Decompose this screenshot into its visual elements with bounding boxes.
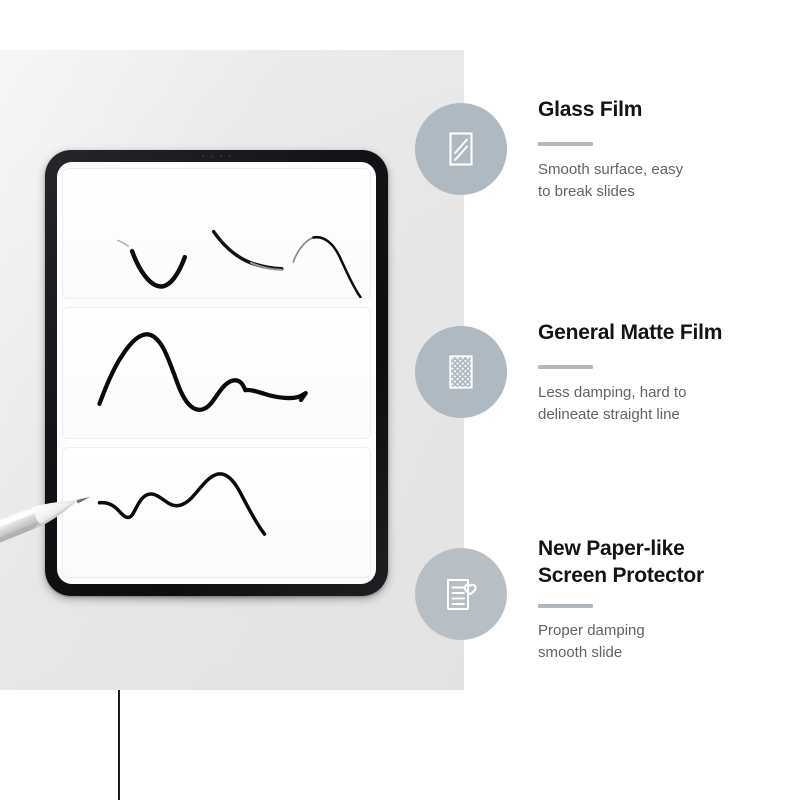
microphone-dot-icon [229, 155, 231, 157]
document-heart-icon [415, 548, 507, 640]
feature-description: Smooth surface, easy to break slides [538, 159, 800, 203]
camera-dot-icon [211, 155, 214, 158]
drawing-panel-glass[interactable] [62, 168, 371, 299]
glass-film-stroke [63, 169, 370, 298]
sensor-dot-icon [221, 155, 222, 156]
feature-title: Glass Film [538, 97, 800, 124]
dotted-matte-sheet-icon [415, 326, 507, 418]
camera-sensor-row [202, 155, 231, 158]
poster-canvas: Glass Film Smooth surface, easy to break… [0, 0, 800, 800]
glass-sheet-icon [415, 103, 507, 195]
drawing-panel-paperlike[interactable] [62, 447, 371, 578]
feature-text-block: Glass Film Smooth surface, easy to break… [538, 97, 800, 202]
matte-film-stroke [63, 308, 370, 437]
tablet-device [45, 150, 388, 596]
feature-description: Less damping, hard to delineate straight… [538, 382, 800, 426]
feature-title: General Matte Film [538, 320, 800, 347]
feature-description: Proper damping smooth slide [538, 620, 800, 664]
drawing-panel-matte[interactable] [62, 307, 371, 438]
paper-like-stroke [63, 448, 370, 577]
sensor-dot-icon [202, 155, 203, 156]
feature-divider [538, 142, 593, 146]
tablet-screen[interactable] [57, 162, 376, 584]
feature-divider [538, 365, 593, 369]
feature-text-block: General Matte Film Less damping, hard to… [538, 320, 800, 425]
feature-text-block: New Paper-like Screen Protector Proper d… [538, 536, 800, 663]
feature-title: New Paper-like Screen Protector [538, 536, 800, 590]
feature-divider [538, 604, 593, 608]
floor-edge-line [118, 690, 120, 800]
